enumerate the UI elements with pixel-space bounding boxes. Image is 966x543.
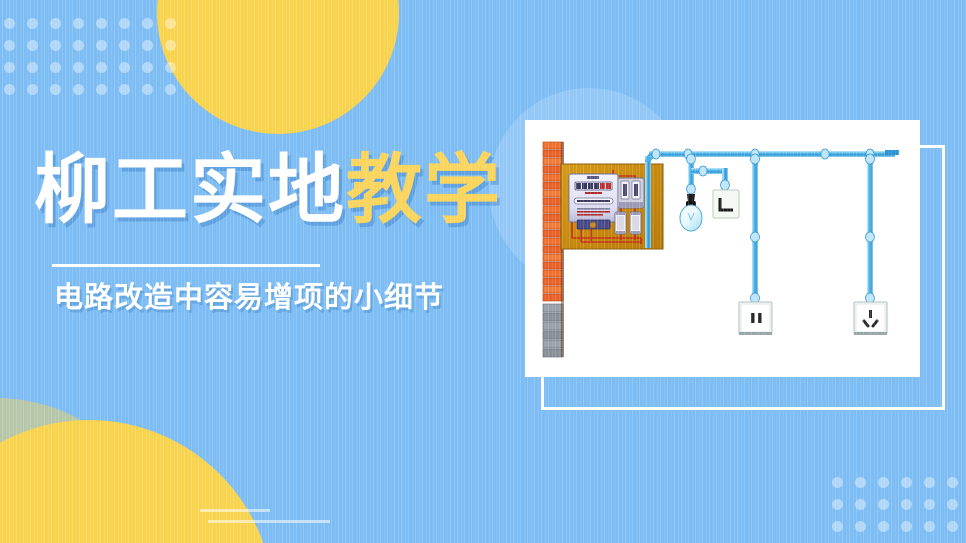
breaker-switch — [618, 178, 644, 208]
decor-dot — [878, 477, 889, 488]
decor-dot — [855, 499, 866, 510]
decor-dot — [96, 40, 107, 51]
decor-dot — [142, 40, 153, 51]
decor-dot — [73, 62, 84, 73]
decor-dot — [27, 84, 38, 95]
decor-dot — [119, 40, 130, 51]
fuse-left — [615, 212, 626, 234]
decor-dot — [119, 84, 130, 95]
decor-dot-grid-top-left — [4, 18, 188, 106]
decor-dot — [4, 18, 15, 29]
title-block: 柳工实地教学 电路改造中容易增项的小细节 — [34, 152, 502, 228]
decor-dot — [4, 62, 15, 73]
decor-dot — [142, 84, 153, 95]
decor-yellow-circle-bottom-solid — [0, 420, 274, 543]
page-title: 柳工实地教学 — [34, 152, 502, 228]
decor-dot — [119, 62, 130, 73]
decor-dot — [947, 477, 958, 488]
page-title-yellow-part: 教学 — [346, 145, 502, 234]
decor-dot — [165, 84, 176, 95]
main-conduit-run — [645, 150, 899, 248]
three-prong-outlet — [854, 302, 887, 335]
decor-dot — [96, 84, 107, 95]
decor-dot — [4, 40, 15, 51]
decor-accent-line — [200, 509, 270, 512]
two-prong-outlet — [739, 302, 772, 335]
decor-dot — [832, 477, 843, 488]
decor-dot — [924, 499, 935, 510]
decor-dot — [27, 18, 38, 29]
decor-dot — [4, 84, 15, 95]
decor-dot — [27, 62, 38, 73]
decor-dot — [878, 499, 889, 510]
decor-dot — [165, 62, 176, 73]
decor-dot — [901, 521, 912, 532]
page-subtitle: 电路改造中容易增项的小细节 — [54, 280, 444, 315]
decor-dot — [901, 477, 912, 488]
decor-dot — [27, 40, 38, 51]
decor-dot — [73, 40, 84, 51]
wall-switch — [713, 190, 739, 218]
decor-dot — [924, 477, 935, 488]
decor-dot — [832, 521, 843, 532]
decor-dot — [165, 18, 176, 29]
decor-accent-line — [208, 520, 330, 523]
decor-dot — [50, 84, 61, 95]
decor-dot — [142, 18, 153, 29]
decor-dot — [50, 62, 61, 73]
decor-dot-grid-bottom-right — [832, 477, 966, 543]
fuse-right — [630, 212, 641, 234]
decor-dot — [73, 18, 84, 29]
decor-dot — [855, 477, 866, 488]
decor-dot — [142, 62, 153, 73]
decor-dot — [878, 521, 889, 532]
decor-dot — [855, 521, 866, 532]
decor-dot — [832, 499, 843, 510]
light-bulb-branch — [680, 154, 739, 231]
decor-dot — [96, 18, 107, 29]
illustration-panel — [525, 120, 920, 377]
slide-canvas: 柳工实地教学 电路改造中容易增项的小细节 — [0, 0, 966, 543]
title-divider — [52, 264, 320, 267]
decor-dot — [901, 499, 912, 510]
decor-dot — [96, 62, 107, 73]
decor-dot — [50, 40, 61, 51]
electricity-meter — [569, 174, 618, 229]
decor-dot — [119, 18, 130, 29]
light-bulb — [680, 194, 702, 231]
decor-dot — [947, 521, 958, 532]
outlet-three-prong-branch — [854, 154, 887, 335]
decor-dot — [947, 499, 958, 510]
decor-dot — [50, 18, 61, 29]
page-title-white-part: 柳工实地 — [34, 145, 346, 234]
decor-yellow-circle-top — [157, 0, 399, 134]
decor-dot — [73, 84, 84, 95]
outlet-two-prong-branch — [739, 154, 772, 335]
decor-dot — [165, 40, 176, 51]
decor-dot — [924, 521, 935, 532]
home-wiring-circuit-diagram — [525, 120, 920, 377]
